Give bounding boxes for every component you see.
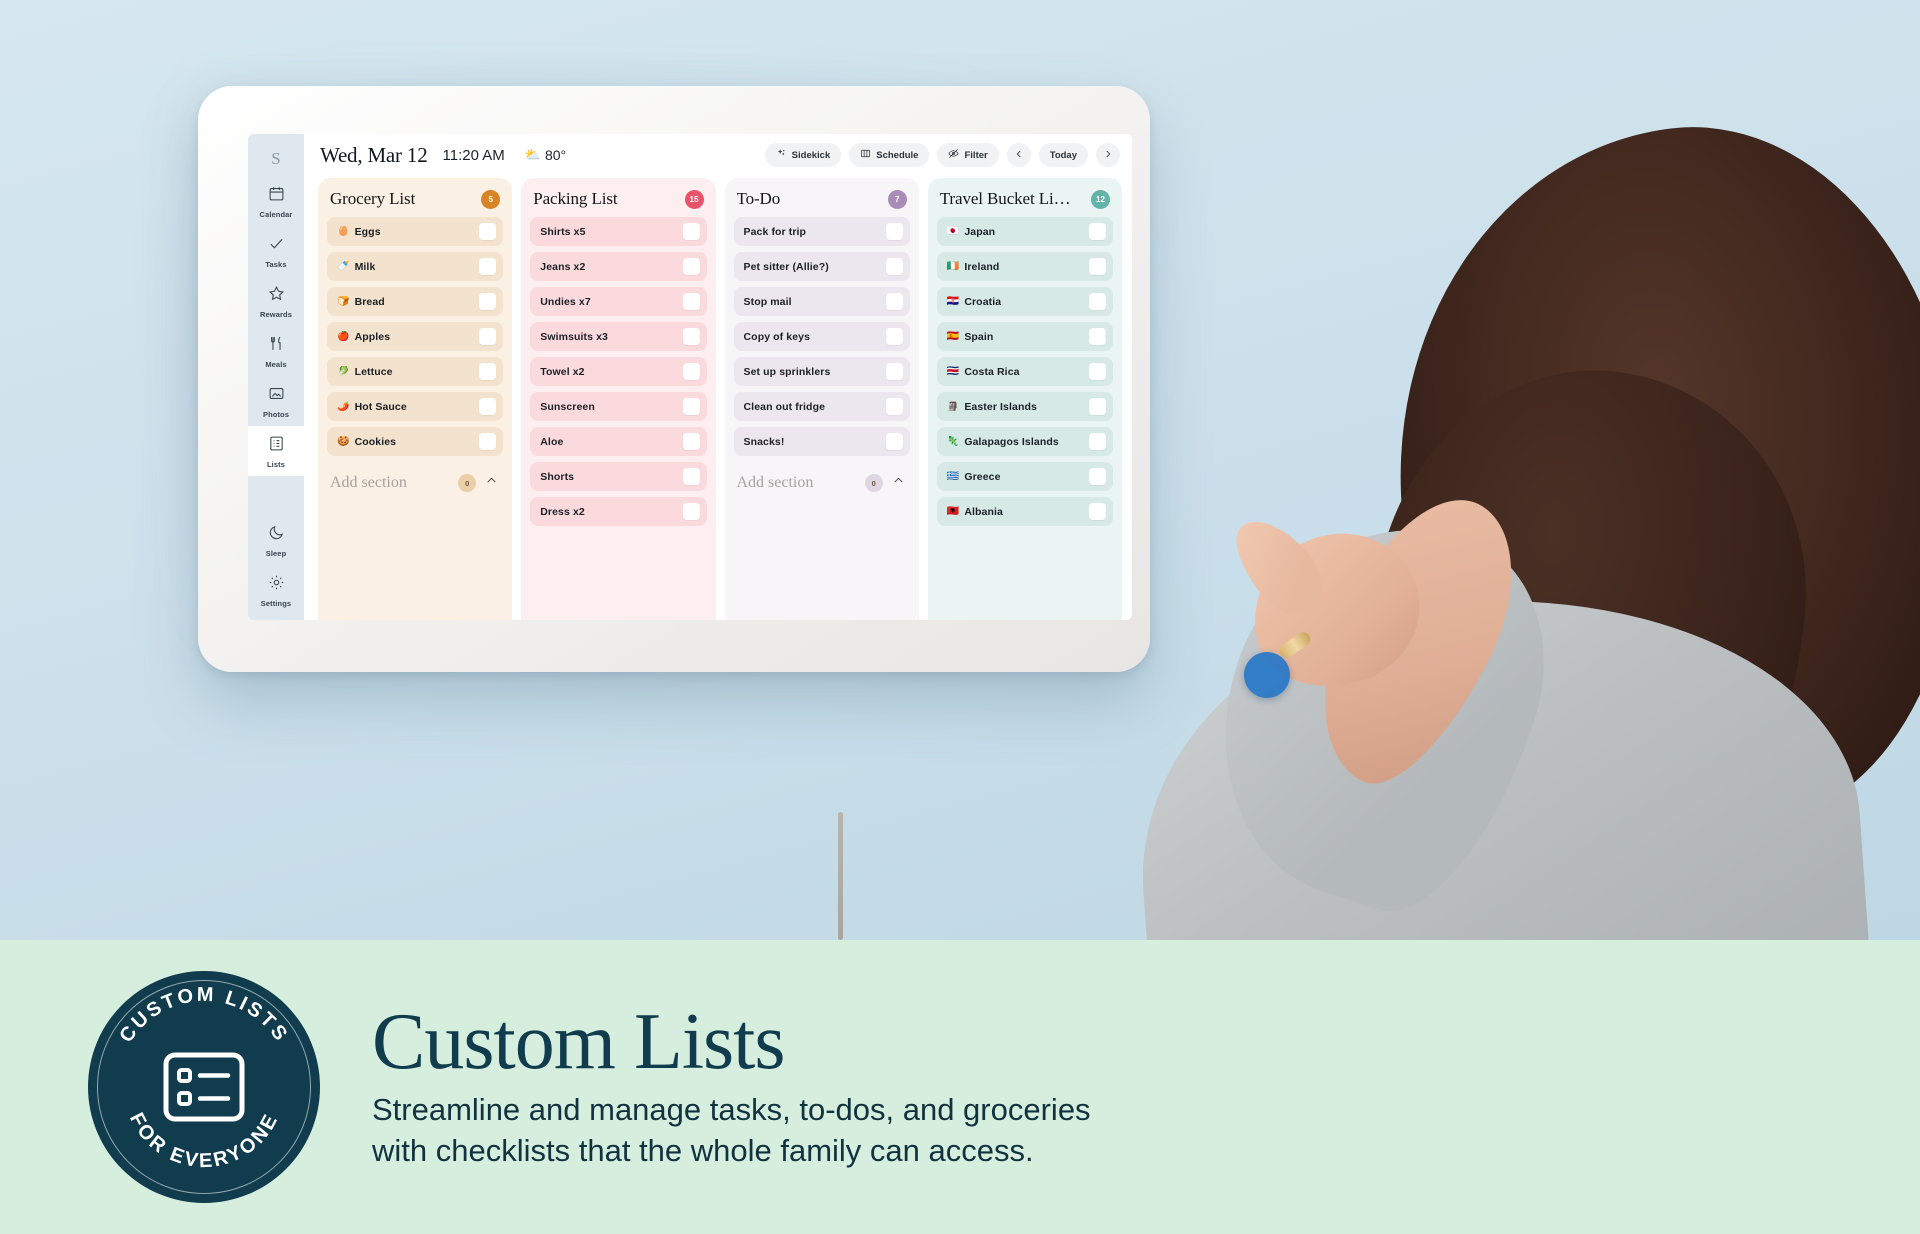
list-item-label: Shorts	[540, 471, 574, 483]
list-item-text: Milk	[355, 261, 376, 273]
chevron-up-icon[interactable]	[892, 474, 905, 492]
columns-icon	[860, 148, 871, 162]
list-item-checkbox[interactable]	[886, 293, 903, 310]
list-item[interactable]: 🇯🇵Japan	[937, 217, 1113, 246]
list-item-text: Swimsuits x3	[540, 331, 608, 343]
list-item-checkbox[interactable]	[886, 398, 903, 415]
sidebar-item-label: Meals	[265, 360, 286, 369]
list-item-emoji-icon: 🇬🇷	[947, 471, 960, 482]
list-item-label: 🥚Eggs	[337, 226, 381, 238]
sparkle-icon	[776, 148, 787, 162]
bottom-banner: CUSTOM LISTS FOR EVERYONE Custom Lists S…	[0, 940, 1920, 1234]
list-item[interactable]: Undies x7	[530, 287, 706, 316]
list-item-label: 🇬🇷Greece	[947, 471, 1001, 483]
list-item-checkbox[interactable]	[1089, 328, 1106, 345]
list-item-checkbox[interactable]	[479, 293, 496, 310]
list-item-checkbox[interactable]	[479, 398, 496, 415]
sidebar-item-label: Lists	[267, 460, 285, 469]
list-item-label: Shirts x5	[540, 226, 585, 238]
list-item-checkbox[interactable]	[479, 363, 496, 380]
list-count-badge: 12	[1091, 190, 1110, 209]
schedule-label: Schedule	[876, 150, 918, 161]
list-item-checkbox[interactable]	[886, 363, 903, 380]
list-header: Travel Bucket Li…12	[937, 187, 1113, 217]
touch-indicator	[1244, 652, 1290, 698]
list-item-emoji-icon: 🦎	[947, 436, 960, 447]
schedule-button[interactable]: Schedule	[849, 143, 929, 167]
list-count-badge: 5	[481, 190, 500, 209]
list-item-label: Jeans x2	[540, 261, 585, 273]
list-item-text: Hot Sauce	[355, 401, 407, 413]
sidebar-item-label: Rewards	[260, 310, 292, 319]
list-item-text: Lettuce	[355, 366, 393, 378]
list-column: Travel Bucket Li…12🇯🇵Japan🇮🇪Ireland🇭🇷Cro…	[928, 178, 1122, 620]
list-item-label: Aloe	[540, 436, 563, 448]
list-item-emoji-icon: 🇭🇷	[947, 296, 960, 307]
eye-off-icon	[948, 148, 959, 162]
list-item[interactable]: Copy of keys	[734, 322, 910, 351]
list-item-label: 🇨🇷Costa Rica	[947, 366, 1020, 378]
today-button[interactable]: Today	[1039, 143, 1088, 167]
list-item-label: Stop mail	[744, 296, 792, 308]
list-item-checkbox[interactable]	[683, 293, 700, 310]
list-item-text: Jeans x2	[540, 261, 585, 273]
list-item-label: Dress x2	[540, 506, 585, 518]
list-item-text: Easter Islands	[964, 401, 1037, 413]
list-item[interactable]: 🥬Lettuce	[327, 357, 503, 386]
list-item[interactable]: Stop mail	[734, 287, 910, 316]
list-item-checkbox[interactable]	[479, 328, 496, 345]
list-item[interactable]: 🌶️Hot Sauce	[327, 392, 503, 421]
wall-display-device: S Calendar Tasks	[198, 86, 1150, 672]
list-item-emoji-icon: 🗿	[947, 401, 960, 412]
banner-subtitle-line2: with checklists that the whole family ca…	[372, 1131, 1091, 1172]
list-item-emoji-icon: 🍪	[337, 436, 350, 447]
list-item-checkbox[interactable]	[683, 503, 700, 520]
temperature: 80°	[545, 147, 566, 163]
list-item-text: Set up sprinklers	[744, 366, 831, 378]
list-item-checkbox[interactable]	[683, 398, 700, 415]
list-item-checkbox[interactable]	[1089, 293, 1106, 310]
banner-copy: Custom Lists Streamline and manage tasks…	[372, 1002, 1091, 1171]
list-item-emoji-icon: 🍞	[337, 296, 350, 307]
list-item-checkbox[interactable]	[683, 223, 700, 240]
calendar-icon	[268, 185, 285, 207]
list-item-label: 🥬Lettuce	[337, 366, 393, 378]
list-item-checkbox[interactable]	[1089, 433, 1106, 450]
list-item-text: Dress x2	[540, 506, 585, 518]
list-count-badge: 15	[685, 190, 704, 209]
list-item-text: Copy of keys	[744, 331, 811, 343]
list-item-text: Snacks!	[744, 436, 785, 448]
list-item-emoji-icon: 🥬	[337, 366, 350, 377]
badge-seal: CUSTOM LISTS FOR EVERYONE	[88, 971, 320, 1203]
list-item[interactable]: Set up sprinklers	[734, 357, 910, 386]
chevron-up-icon[interactable]	[485, 474, 498, 492]
list-header: Packing List15	[530, 187, 706, 217]
today-label: Today	[1050, 150, 1077, 161]
list-item-text: Eggs	[355, 226, 381, 238]
list-item-emoji-icon: 🍼	[337, 261, 350, 272]
list-item-text: Costa Rica	[964, 366, 1019, 378]
list-item-label: Towel x2	[540, 366, 584, 378]
list-title: Grocery List	[330, 189, 415, 209]
list-item-text: Sunscreen	[540, 401, 595, 413]
list-item-checkbox[interactable]	[1089, 398, 1106, 415]
person-photo	[1160, 120, 1920, 940]
banner-subtitle-line1: Streamline and manage tasks, to-dos, and…	[372, 1090, 1091, 1131]
list-item-label: 🇭🇷Croatia	[947, 296, 1001, 308]
add-section-button[interactable]: Add section0	[734, 464, 910, 502]
list-item[interactable]: Pack for trip	[734, 217, 910, 246]
list-title: To-Do	[737, 189, 781, 209]
list-column: To-Do7Pack for tripPet sitter (Allie?)St…	[725, 178, 919, 620]
list-item-emoji-icon: 🇦🇱	[947, 506, 960, 517]
list-item[interactable]: Swimsuits x3	[530, 322, 706, 351]
list-item-label: Swimsuits x3	[540, 331, 608, 343]
list-item-checkbox[interactable]	[886, 328, 903, 345]
sidebar-item-sleep[interactable]: Sleep	[248, 515, 304, 565]
list-item-checkbox[interactable]	[1089, 363, 1106, 380]
list-item-text: Japan	[964, 226, 995, 238]
list-item-checkbox[interactable]	[683, 468, 700, 485]
list-item-label: Pack for trip	[744, 226, 807, 238]
sidekick-button[interactable]: Sidekick	[765, 143, 842, 167]
list-item-emoji-icon: 🇪🇸	[947, 331, 960, 342]
list-item-label: Pet sitter (Allie?)	[744, 261, 829, 273]
list-item[interactable]: 🇨🇷Costa Rica	[937, 357, 1113, 386]
add-section-label: Add section	[330, 474, 449, 492]
list-item-emoji-icon: 🍎	[337, 331, 350, 342]
list-item[interactable]: Pet sitter (Allie?)	[734, 252, 910, 281]
star-icon	[268, 285, 285, 307]
list-item[interactable]: 🦎Galapagos Islands	[937, 427, 1113, 456]
list-item[interactable]: 🍞Bread	[327, 287, 503, 316]
list-item[interactable]: Snacks!	[734, 427, 910, 456]
photo-icon	[268, 385, 285, 407]
list-column: Packing List15Shirts x5Jeans x2Undies x7…	[521, 178, 715, 620]
sidebar-item-label: Settings	[261, 599, 291, 608]
list-item-checkbox[interactable]	[683, 363, 700, 380]
main-content: Wed, Mar 12 11:20 AM ⛅ 80° Sidekick	[304, 134, 1132, 620]
list-item-label: 🍎Apples	[337, 331, 390, 343]
list-item-checkbox[interactable]	[479, 223, 496, 240]
list-item[interactable]: Dress x2	[530, 497, 706, 526]
list-item-label: 🌶️Hot Sauce	[337, 401, 407, 413]
weather-widget: ⛅ 80°	[525, 147, 566, 163]
sidebar-item-meals[interactable]: Meals	[248, 326, 304, 376]
list-item-label: 🇯🇵Japan	[947, 226, 995, 238]
check-icon	[268, 235, 285, 257]
list-item-label: Snacks!	[744, 436, 785, 448]
list-item-emoji-icon: 🇨🇷	[947, 366, 960, 377]
list-item-text: Shirts x5	[540, 226, 585, 238]
list-item[interactable]: 🍼Milk	[327, 252, 503, 281]
seal-text: CUSTOM LISTS FOR EVERYONE	[88, 971, 320, 1203]
list-item[interactable]: Sunscreen	[530, 392, 706, 421]
list-title: Packing List	[533, 189, 617, 209]
list-item-label: 🇮🇪Ireland	[947, 261, 1000, 273]
list-item-checkbox[interactable]	[886, 258, 903, 275]
filter-button[interactable]: Filter	[937, 143, 998, 167]
list-item-label: 🇦🇱Albania	[947, 506, 1003, 518]
add-section-button[interactable]: Add section0	[327, 464, 503, 502]
list-item-checkbox[interactable]	[1089, 223, 1106, 240]
list-item-text: Galapagos Islands	[964, 436, 1058, 448]
list-item[interactable]: 🇦🇱Albania	[937, 497, 1113, 526]
sidebar-item-rewards[interactable]: Rewards	[248, 276, 304, 326]
screen: S Calendar Tasks	[248, 134, 1132, 620]
list-item-label: 🗿Easter Islands	[947, 401, 1037, 413]
list-item-text: Aloe	[540, 436, 563, 448]
list-item-checkbox[interactable]	[886, 433, 903, 450]
list-item-label: Clean out fridge	[744, 401, 826, 413]
list-item-label: 🦎Galapagos Islands	[947, 436, 1059, 448]
list-item-checkbox[interactable]	[1089, 468, 1106, 485]
list-item-text: Bread	[355, 296, 385, 308]
sidebar-item-settings[interactable]: Settings	[248, 565, 304, 620]
list-item-checkbox[interactable]	[886, 223, 903, 240]
list-item[interactable]: Shorts	[530, 462, 706, 491]
list-item-emoji-icon: 🇯🇵	[947, 226, 960, 237]
brand-logo: S	[271, 142, 280, 176]
list-item-text: Pet sitter (Allie?)	[744, 261, 829, 273]
list-item[interactable]: Shirts x5	[530, 217, 706, 246]
partly-sunny-icon: ⛅	[525, 147, 541, 163]
list-item[interactable]: 🇪🇸Spain	[937, 322, 1113, 351]
list-item-emoji-icon: 🥚	[337, 226, 350, 237]
list-item[interactable]: 🗿Easter Islands	[937, 392, 1113, 421]
list-item-text: Shorts	[540, 471, 574, 483]
next-button[interactable]	[1096, 143, 1120, 167]
chevron-right-icon	[1103, 146, 1113, 164]
list-item[interactable]: 🍪Cookies	[327, 427, 503, 456]
list-item-text: Greece	[964, 471, 1000, 483]
list-item-text: Spain	[964, 331, 993, 343]
list-item-checkbox[interactable]	[683, 258, 700, 275]
list-item[interactable]: Jeans x2	[530, 252, 706, 281]
list-item-label: Sunscreen	[540, 401, 595, 413]
list-item[interactable]: 🍎Apples	[327, 322, 503, 351]
top-bar: Wed, Mar 12 11:20 AM ⛅ 80° Sidekick	[304, 134, 1132, 176]
list-item-checkbox[interactable]	[479, 433, 496, 450]
list-item[interactable]: 🇮🇪Ireland	[937, 252, 1113, 281]
list-item-text: Undies x7	[540, 296, 591, 308]
list-item-text: Albania	[964, 506, 1003, 518]
banner-title: Custom Lists	[372, 1002, 1091, 1084]
list-item-text: Croatia	[964, 296, 1001, 308]
lists-board: Grocery List5🥚Eggs🍼Milk🍞Bread🍎Apples🥬Let…	[304, 176, 1132, 620]
list-item-emoji-icon: 🇮🇪	[947, 261, 960, 272]
add-section-count-badge: 0	[865, 474, 883, 492]
list-item-checkbox[interactable]	[683, 328, 700, 345]
sidebar-item-label: Calendar	[260, 210, 293, 219]
chevron-left-icon	[1014, 146, 1024, 164]
list-item-text: Stop mail	[744, 296, 792, 308]
list-item-label: Set up sprinklers	[744, 366, 831, 378]
list-item-text: Cookies	[355, 436, 397, 448]
list-item-text: Clean out fridge	[744, 401, 826, 413]
list-item-emoji-icon: 🌶️	[337, 401, 350, 412]
list-item-label: Undies x7	[540, 296, 591, 308]
list-icon	[268, 435, 285, 457]
current-date: Wed, Mar 12	[320, 143, 428, 168]
list-item-text: Apples	[355, 331, 391, 343]
list-item-label: 🍼Milk	[337, 261, 375, 273]
list-item[interactable]: Towel x2	[530, 357, 706, 386]
list-title: Travel Bucket Li…	[940, 189, 1071, 209]
list-header: Grocery List5	[327, 187, 503, 217]
list-item-label: 🍞Bread	[337, 296, 385, 308]
list-item[interactable]: 🇬🇷Greece	[937, 462, 1113, 491]
list-item[interactable]: Clean out fridge	[734, 392, 910, 421]
power-cord	[838, 812, 843, 940]
moon-icon	[268, 524, 285, 546]
list-item-label: Copy of keys	[744, 331, 811, 343]
list-item-text: Pack for trip	[744, 226, 807, 238]
sidebar-item-lists[interactable]: Lists	[248, 426, 304, 476]
sidekick-label: Sidekick	[792, 150, 831, 161]
list-item[interactable]: Aloe	[530, 427, 706, 456]
sidebar-item-photos[interactable]: Photos	[248, 376, 304, 426]
sidebar-item-label: Photos	[263, 410, 289, 419]
list-item[interactable]: 🥚Eggs	[327, 217, 503, 246]
utensils-icon	[268, 335, 285, 357]
filter-label: Filter	[964, 150, 987, 161]
banner-subtitle: Streamline and manage tasks, to-dos, and…	[372, 1090, 1091, 1172]
list-item-checkbox[interactable]	[1089, 503, 1106, 520]
add-section-label: Add section	[737, 474, 856, 492]
sidebar-item-label: Tasks	[265, 260, 286, 269]
list-column: Grocery List5🥚Eggs🍼Milk🍞Bread🍎Apples🥬Let…	[318, 178, 512, 620]
current-time: 11:20 AM	[443, 147, 505, 164]
sidebar-item-tasks[interactable]: Tasks	[248, 226, 304, 276]
list-item-label: 🍪Cookies	[337, 436, 396, 448]
sidebar-item-calendar[interactable]: Calendar	[248, 176, 304, 226]
gear-icon	[268, 574, 285, 596]
list-item-text: Towel x2	[540, 366, 584, 378]
list-count-badge: 7	[888, 190, 907, 209]
sidebar-item-label: Sleep	[266, 549, 287, 558]
list-item-label: 🇪🇸Spain	[947, 331, 994, 343]
list-item-checkbox[interactable]	[1089, 258, 1106, 275]
list-item-text: Ireland	[964, 261, 999, 273]
list-item-checkbox[interactable]	[479, 258, 496, 275]
photo-scene: S Calendar Tasks	[0, 0, 1920, 940]
seal-top-text: CUSTOM LISTS	[115, 984, 292, 1047]
sidebar: S Calendar Tasks	[248, 134, 304, 620]
add-section-count-badge: 0	[458, 474, 476, 492]
seal-bottom-text: FOR EVERYONE	[125, 1109, 283, 1172]
prev-button[interactable]	[1007, 143, 1031, 167]
list-item-checkbox[interactable]	[683, 433, 700, 450]
list-header: To-Do7	[734, 187, 910, 217]
list-item[interactable]: 🇭🇷Croatia	[937, 287, 1113, 316]
